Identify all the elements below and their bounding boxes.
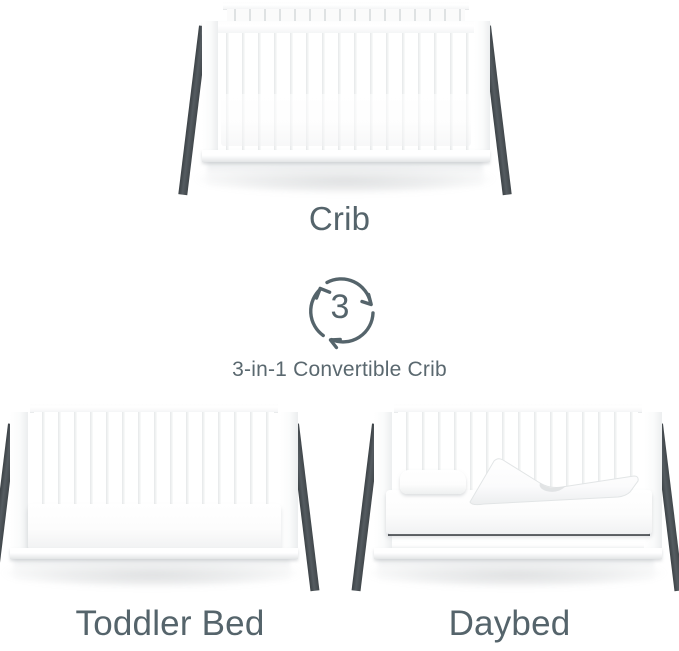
crib-illustration: [185, 2, 505, 198]
crib-back-top-rail: [223, 2, 469, 9]
product-illustration-canvas: Crib 3 3-in-1 Convertible Crib: [0, 0, 679, 651]
convertible-caption: 3-in-1 Convertible Crib: [0, 358, 679, 382]
daybed-label: Daybed: [340, 604, 679, 644]
toddler-bed-post-right: [280, 412, 298, 558]
toddler-bed-illustration: [0, 398, 314, 594]
crib-post-left: [202, 21, 218, 162]
daybed-base-rail: [374, 548, 662, 559]
crib-front-top-rail: [202, 21, 490, 33]
cycle-number: 3: [296, 288, 384, 327]
crib-post-right: [474, 21, 490, 162]
crib-label: Crib: [0, 200, 679, 238]
toddler-bed-back-slats: [34, 412, 274, 506]
toddler-bed-base-rail: [10, 548, 298, 559]
daybed-post-right: [644, 412, 662, 558]
daybed-blanket: [454, 456, 639, 506]
crib-mattress: [221, 94, 471, 146]
toddler-bed-back-top-rail: [30, 404, 278, 412]
toddler-bed-post-left: [10, 412, 28, 558]
daybed-back-top-rail: [394, 404, 642, 412]
cycle-arrows-icon: 3: [296, 266, 384, 354]
crib-bottom-rail: [202, 150, 490, 162]
toddler-bed-label: Toddler Bed: [0, 604, 340, 644]
daybed-post-left: [374, 412, 392, 558]
toddler-bed-mattress: [28, 504, 281, 549]
daybed-illustration: [358, 398, 678, 594]
